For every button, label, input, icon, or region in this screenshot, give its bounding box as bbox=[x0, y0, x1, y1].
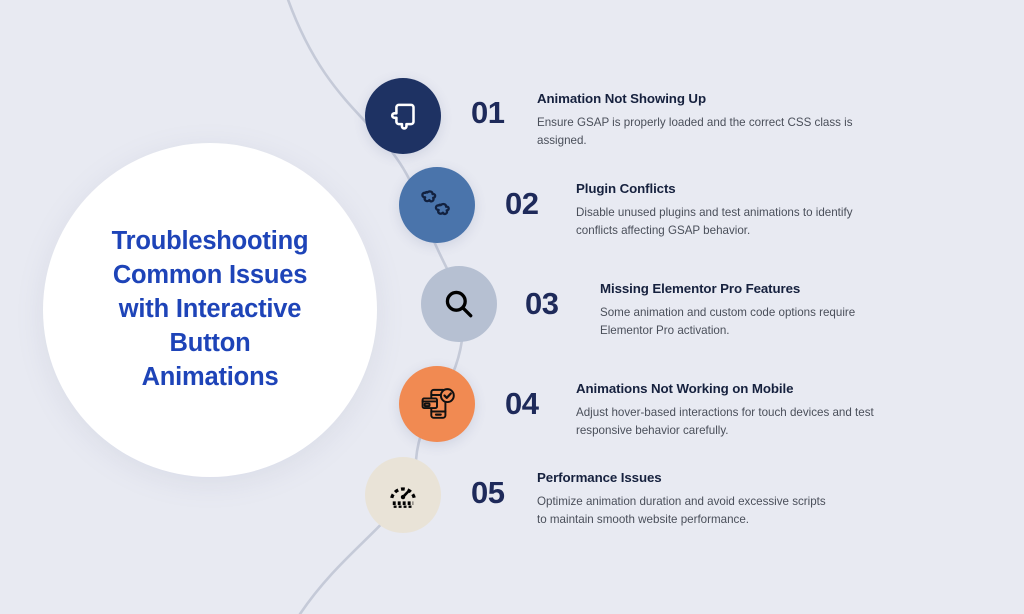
item-description-04: Adjust hover-based interactions for touc… bbox=[576, 404, 876, 440]
item-description-03: Some animation and custom code options r… bbox=[600, 304, 900, 340]
item-number-03: 03 bbox=[525, 288, 558, 319]
item-number-02: 02 bbox=[505, 188, 538, 219]
infographic-canvas: Troubleshooting Common Issues with Inter… bbox=[0, 0, 1024, 614]
icon-badge-05[interactable] bbox=[365, 457, 441, 533]
item-heading-05: Performance Issues bbox=[537, 470, 837, 487]
mobile-payment-check-icon bbox=[416, 383, 458, 425]
item-number-05: 05 bbox=[471, 477, 504, 508]
speedometer-icon bbox=[384, 476, 422, 514]
two-puzzle-pieces-icon bbox=[417, 185, 457, 225]
item-heading-04: Animations Not Working on Mobile bbox=[576, 381, 876, 398]
item-heading-03: Missing Elementor Pro Features bbox=[600, 281, 900, 298]
item-text-05: Performance Issues Optimize animation du… bbox=[537, 470, 837, 529]
magnifier-icon bbox=[440, 285, 478, 323]
item-heading-02: Plugin Conflicts bbox=[576, 181, 876, 198]
item-text-04: Animations Not Working on Mobile Adjust … bbox=[576, 381, 876, 440]
item-number-01: 01 bbox=[471, 97, 504, 128]
item-description-05: Optimize animation duration and avoid ex… bbox=[537, 493, 837, 529]
item-description-01: Ensure GSAP is properly loaded and the c… bbox=[537, 114, 867, 150]
item-heading-01: Animation Not Showing Up bbox=[537, 91, 867, 108]
item-description-02: Disable unused plugins and test animatio… bbox=[576, 204, 876, 240]
icon-badge-01[interactable] bbox=[365, 78, 441, 154]
puzzle-piece-icon bbox=[385, 98, 421, 134]
item-text-01: Animation Not Showing Up Ensure GSAP is … bbox=[537, 91, 867, 150]
icon-badge-02[interactable] bbox=[399, 167, 475, 243]
item-number-04: 04 bbox=[505, 388, 538, 419]
item-text-03: Missing Elementor Pro Features Some anim… bbox=[600, 281, 900, 340]
timeline-list: 01 Animation Not Showing Up Ensure GSAP … bbox=[0, 0, 1024, 614]
icon-badge-03[interactable] bbox=[421, 266, 497, 342]
item-text-02: Plugin Conflicts Disable unused plugins … bbox=[576, 181, 876, 240]
icon-badge-04[interactable] bbox=[399, 366, 475, 442]
